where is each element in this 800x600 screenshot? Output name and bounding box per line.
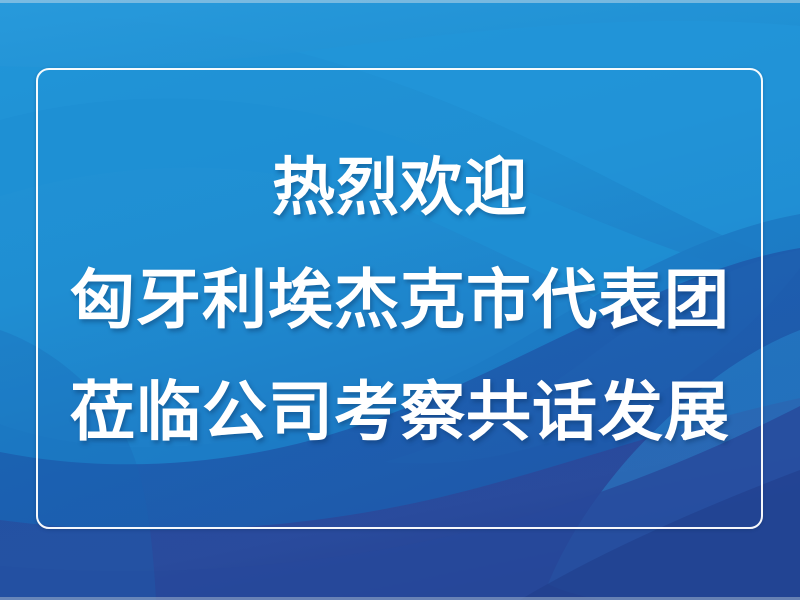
welcome-banner: 热烈欢迎 匈牙利埃杰克市代表团 莅临公司考察共话发展 bbox=[0, 0, 800, 600]
decorative-border-frame bbox=[36, 68, 763, 529]
